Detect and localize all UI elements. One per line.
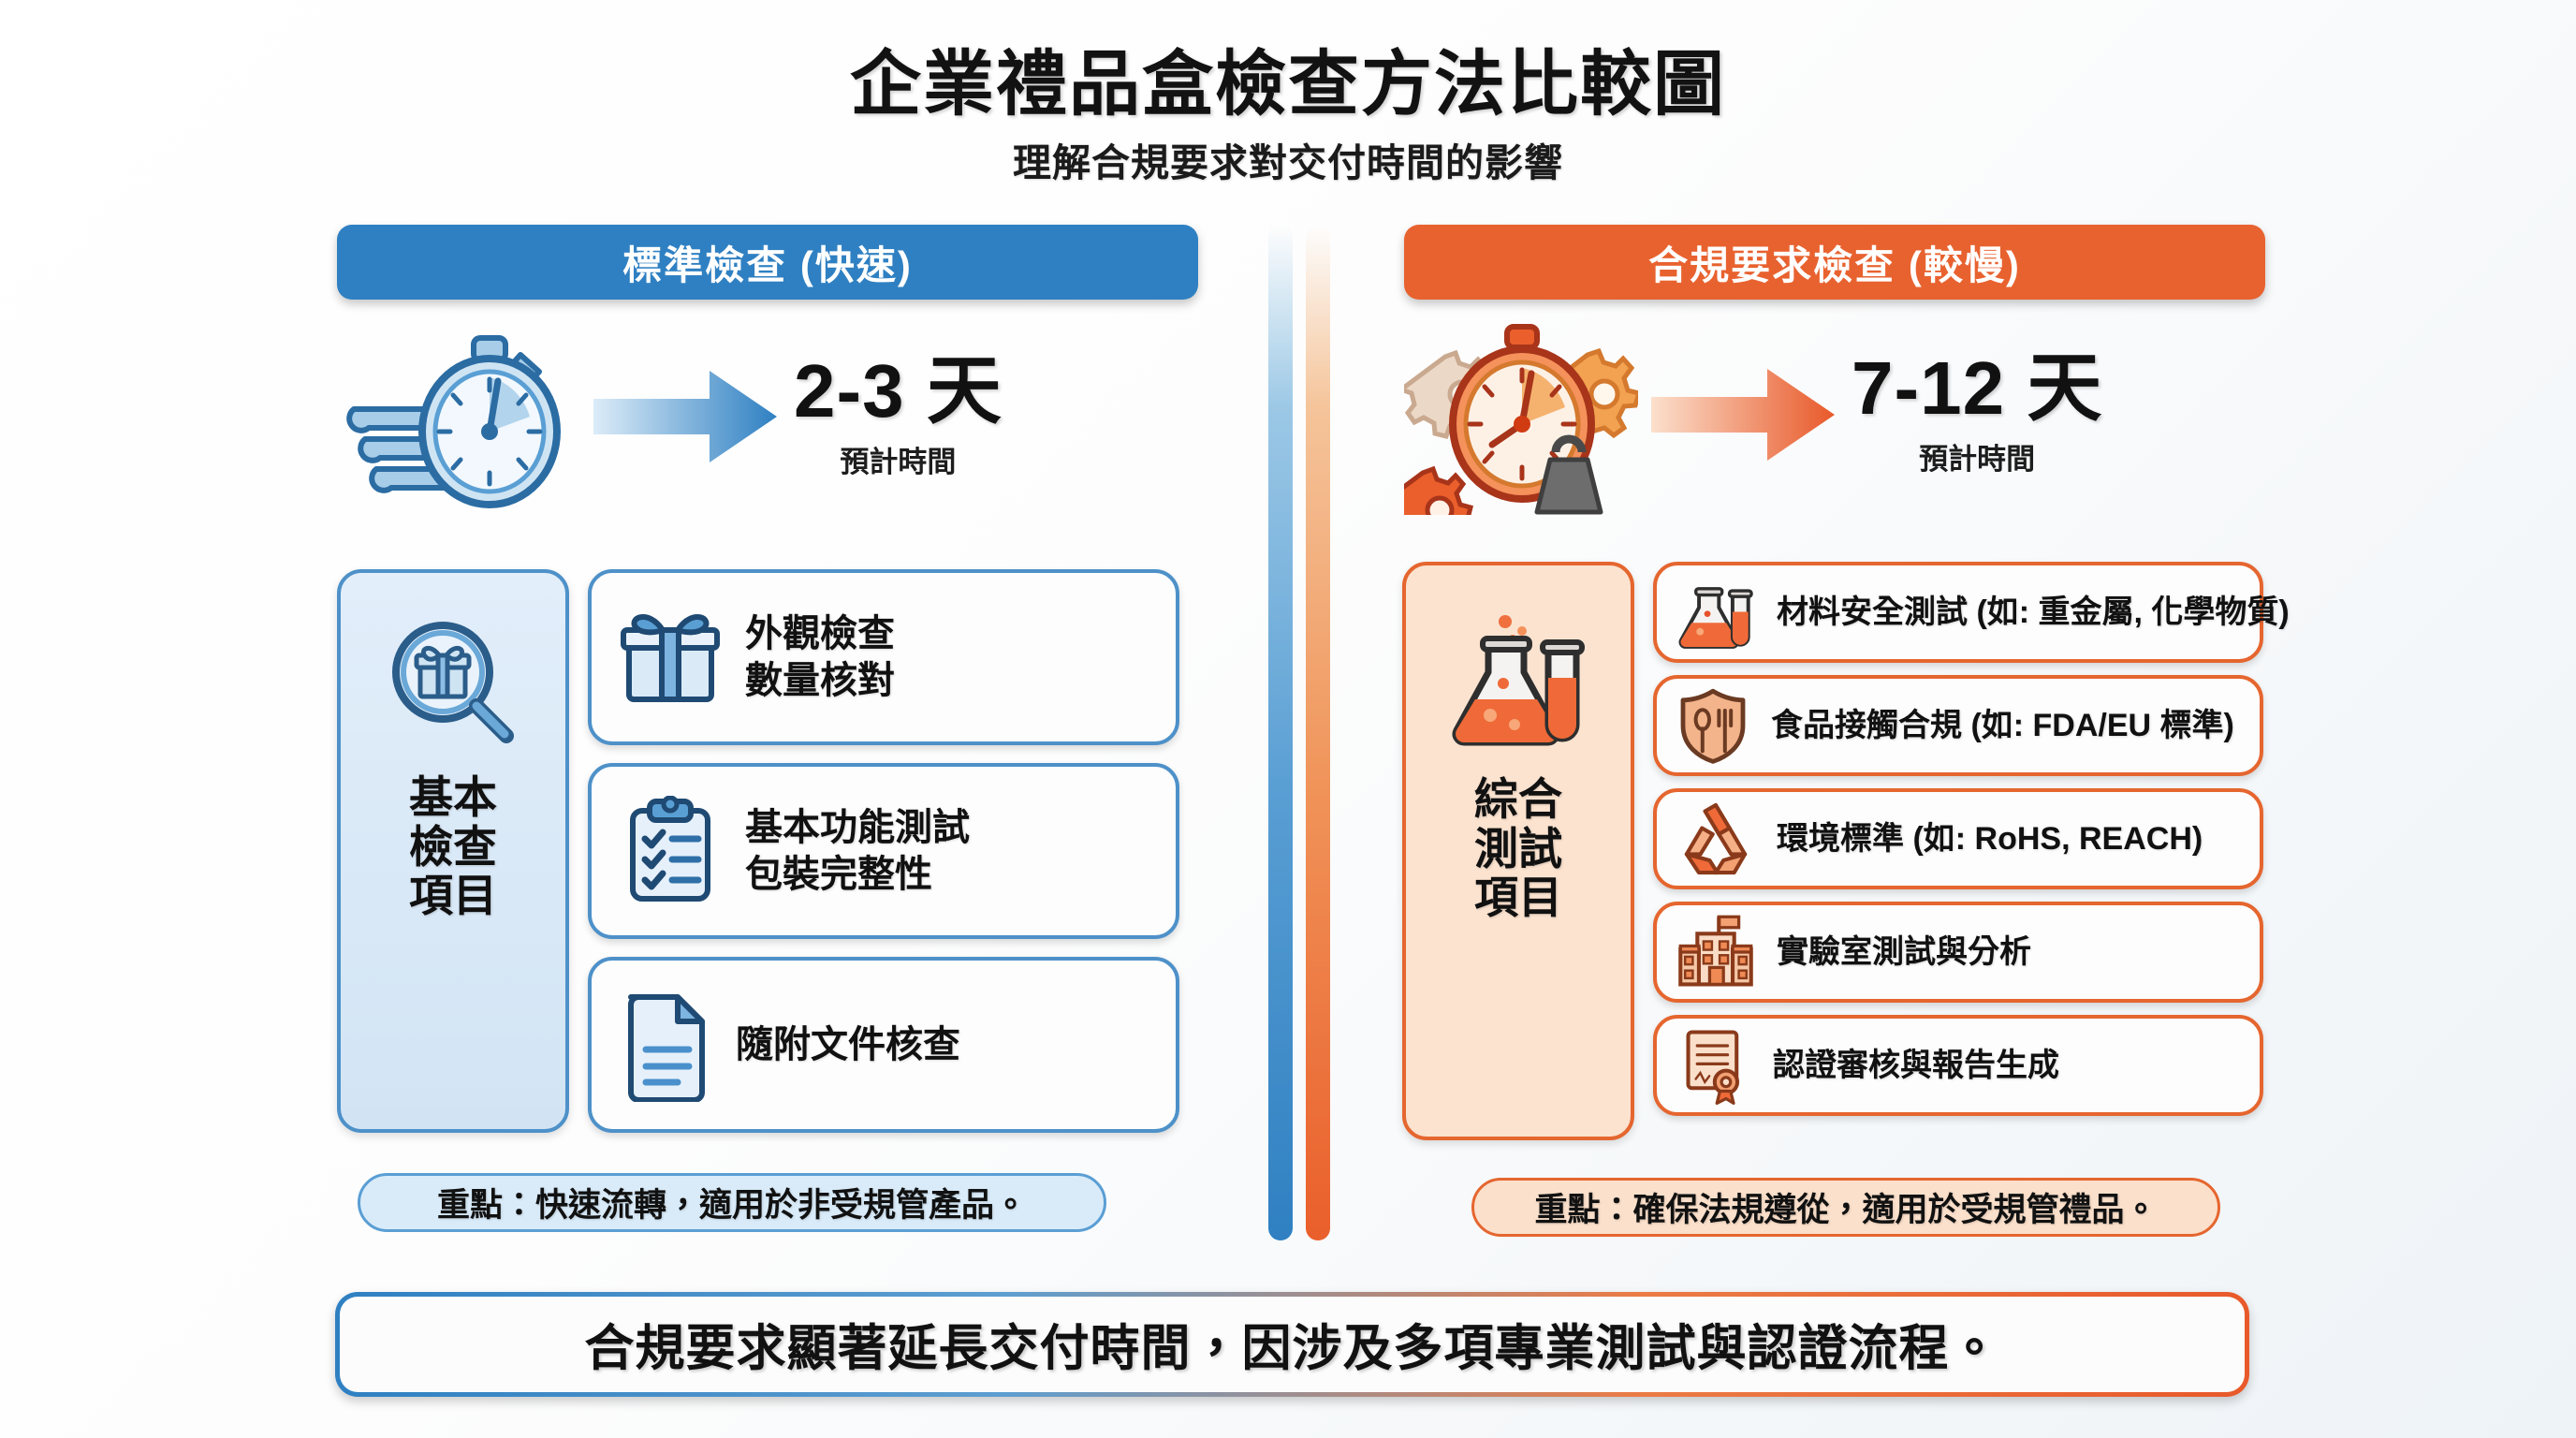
left-key-note: 重點：快速流轉，適用於非受規管產品。 (358, 1173, 1106, 1232)
side-label-line: 項目 (392, 872, 514, 921)
left-items-area: 基本 檢查 項目 (337, 569, 1179, 1133)
right-item-text: 環境標準 (如: RoHS, REACH) (1777, 820, 2203, 858)
gift-box-icon (616, 606, 724, 709)
page-title: 企業禮品盒檢查方法比較圖 (0, 26, 2576, 129)
right-item-card[interactable]: 認證審核與報告生成 (1653, 1015, 2263, 1116)
item-text-line: 外觀檢查 (745, 610, 895, 657)
arrow-right-icon (1651, 363, 1838, 466)
page-subtitle: 理解合規要求對交付時間的影響 (0, 131, 2576, 187)
right-side-card-label: 綜合 測試 項目 (1457, 775, 1579, 923)
left-side-card-label: 基本 檢查 項目 (392, 773, 514, 921)
infographic-canvas: 企業禮品盒檢查方法比較圖 理解合規要求對交付時間的影響 標準檢查 (快速) 合規… (0, 0, 2576, 1438)
left-column: 標準檢查 (快速) (337, 225, 1198, 300)
right-side-card: 綜合 測試 項目 (1402, 562, 1634, 1140)
food-shield-icon (1676, 686, 1750, 765)
document-page-icon (616, 988, 715, 1102)
left-item-text: 隨附文件核查 (736, 1021, 960, 1068)
left-item-text: 外觀檢查 數量核對 (745, 610, 895, 705)
right-eta-row: 7-12 天 預計時間 (1404, 314, 2102, 515)
left-eta-caption: 預計時間 (840, 438, 956, 480)
conclusion-banner: 合規要求顯著延長交付時間，因涉及多項專業測試與認證流程。 (335, 1292, 2249, 1397)
divider-bar-blue (1268, 225, 1293, 1240)
side-label-line: 測試 (1457, 825, 1579, 874)
arrow-right-icon (593, 365, 781, 468)
right-item-card[interactable]: 環境標準 (如: RoHS, REACH) (1653, 788, 2263, 889)
right-items-area: 綜合 測試 項目 材料安全測試 (如: (1402, 562, 2263, 1140)
left-card-list: 外觀檢查 數量核對 (588, 569, 1179, 1133)
right-eta-caption: 預計時間 (1919, 435, 2035, 477)
lab-building-icon (1676, 914, 1756, 990)
right-item-text: 實驗室測試與分析 (1777, 933, 2031, 972)
item-text-line: 數量核對 (745, 657, 895, 704)
right-banner: 合規要求檢查 (較慢) (1404, 225, 2265, 300)
side-label-line: 綜合 (1457, 775, 1579, 825)
right-eta-value: 7-12 天 (1851, 351, 2102, 426)
right-item-card[interactable]: 材料安全測試 (如: 重金屬, 化學物質) (1653, 562, 2263, 663)
side-label-line: 基本 (392, 773, 514, 823)
divider-bar-orange (1306, 225, 1330, 1240)
left-item-text: 基本功能測試 包裝完整性 (745, 804, 970, 899)
winged-stopwatch-icon (337, 323, 580, 510)
right-column: 合規要求檢查 (較慢) (1404, 225, 2265, 300)
left-eta-value: 2-3 天 (794, 354, 1003, 429)
right-key-note: 重點：確保法規遵從，適用於受規管禮品。 (1471, 1178, 2220, 1237)
recycle-icon (1676, 800, 1756, 877)
conclusion-text: 合規要求顯著延長交付時間，因涉及多項專業測試與認證流程。 (340, 1297, 2245, 1392)
side-label-line: 項目 (1457, 873, 1579, 923)
right-item-text: 材料安全測試 (如: 重金屬, 化學物質) (1777, 594, 2290, 632)
flask-testtube-icon (1676, 573, 1756, 652)
left-item-card[interactable]: 隨附文件核查 (588, 957, 1179, 1133)
side-label-line: 檢查 (392, 823, 514, 873)
clipboard-checklist-icon (616, 796, 724, 906)
right-item-text: 食品接觸合規 (如: FDA/EU 標準) (1771, 707, 2234, 745)
right-item-card[interactable]: 實驗室測試與分析 (1653, 902, 2263, 1003)
left-banner: 標準檢查 (快速) (337, 225, 1198, 300)
item-text-line: 隨附文件核查 (736, 1021, 960, 1068)
gear-clock-weight-icon (1404, 314, 1638, 515)
right-item-card[interactable]: 食品接觸合規 (如: FDA/EU 標準) (1653, 675, 2263, 776)
magnifier-gift-icon (383, 618, 523, 749)
left-eta-row: 2-3 天 預計時間 (337, 323, 1003, 510)
item-text-line: 基本功能測試 (745, 804, 970, 851)
right-card-list: 材料安全測試 (如: 重金屬, 化學物質) (1653, 562, 2263, 1140)
certificate-icon (1676, 1026, 1752, 1105)
right-item-text: 認證審核與報告生成 (1773, 1047, 2059, 1085)
left-side-card: 基本 檢查 項目 (337, 569, 569, 1133)
item-text-line: 包裝完整性 (745, 851, 970, 898)
left-item-card[interactable]: 基本功能測試 包裝完整性 (588, 763, 1179, 939)
left-item-card[interactable]: 外觀檢查 數量核對 (588, 569, 1179, 745)
flask-testtube-icon (1447, 610, 1589, 751)
